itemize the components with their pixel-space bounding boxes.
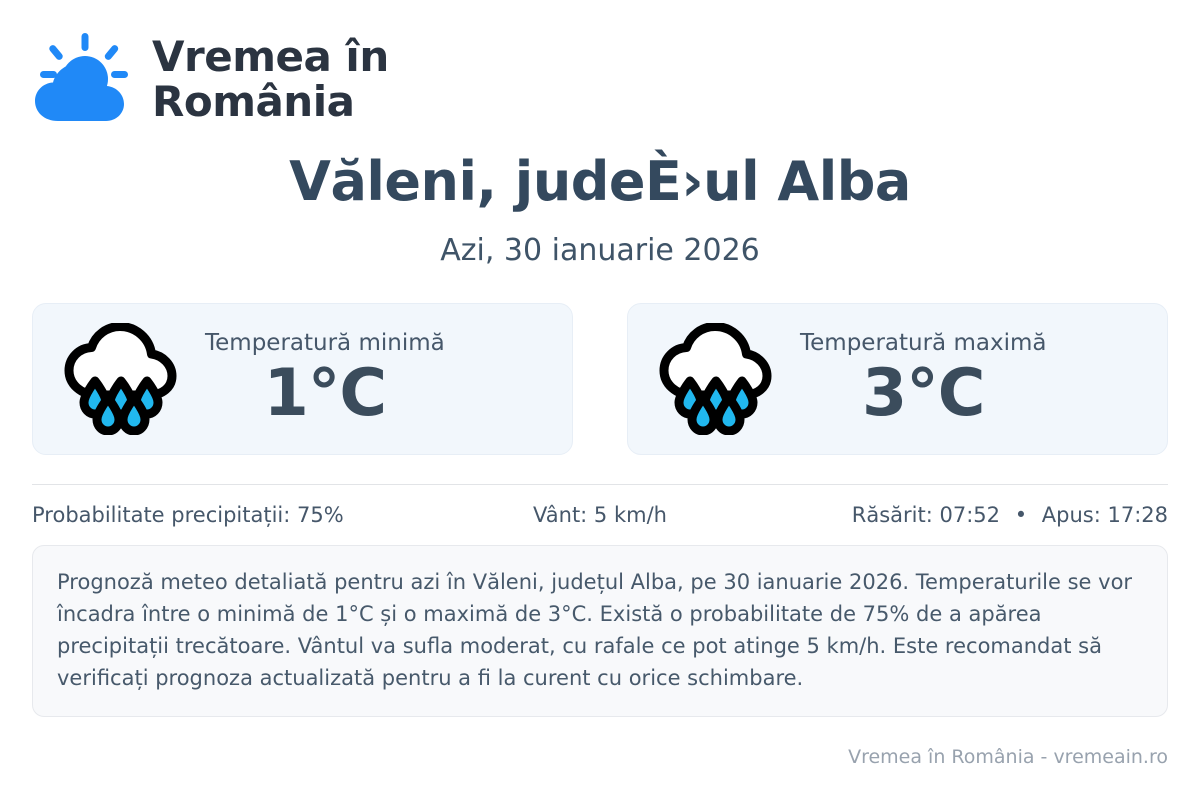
precipitation-stat: Probabilitate precipitații: 75%: [32, 503, 411, 527]
conditions-row: Probabilitate precipitații: 75% Vânt: 5 …: [32, 503, 1168, 527]
weather-page: Vremea în România Văleni, judeÈ›ul Alba …: [0, 0, 1200, 800]
rain-cloud-icon: [654, 323, 778, 435]
temperature-cards: Temperatură minimă 1°C Temper: [32, 303, 1168, 455]
max-temperature-body: Temperatură maximă 3°C: [800, 330, 1046, 430]
sunset-value: Apus: 17:28: [1042, 503, 1168, 527]
section-divider: [32, 484, 1168, 485]
min-temperature-card: Temperatură minimă 1°C: [32, 303, 573, 455]
bullet-separator-icon: •: [1007, 503, 1035, 527]
min-temperature-body: Temperatură minimă 1°C: [205, 330, 445, 430]
page-title: Văleni, judeÈ›ul Alba: [32, 152, 1168, 211]
max-temperature-label: Temperatură maximă: [800, 330, 1046, 358]
sunrise-value: Răsărit: 07:52: [852, 503, 1000, 527]
forecast-description: Prognoză meteo detaliată pentru azi în V…: [32, 545, 1168, 717]
page-subtitle: Azi, 30 ianuarie 2026: [32, 233, 1168, 268]
wind-stat: Vânt: 5 km/h: [411, 503, 790, 527]
brand-name: Vremea în România: [152, 34, 389, 125]
max-temperature-value: 3°C: [800, 359, 1046, 429]
max-temperature-card: Temperatură maximă 3°C: [627, 303, 1168, 455]
sun-behind-cloud-icon: [32, 31, 136, 127]
brand-header: Vremea în România: [32, 0, 1168, 110]
sun-times-stat: Răsărit: 07:52 • Apus: 17:28: [789, 503, 1168, 527]
footer-attribution: Vremea în România - vremeain.ro: [848, 746, 1168, 768]
rain-cloud-icon: [59, 323, 183, 435]
min-temperature-label: Temperatură minimă: [205, 330, 445, 358]
min-temperature-value: 1°C: [205, 359, 445, 429]
